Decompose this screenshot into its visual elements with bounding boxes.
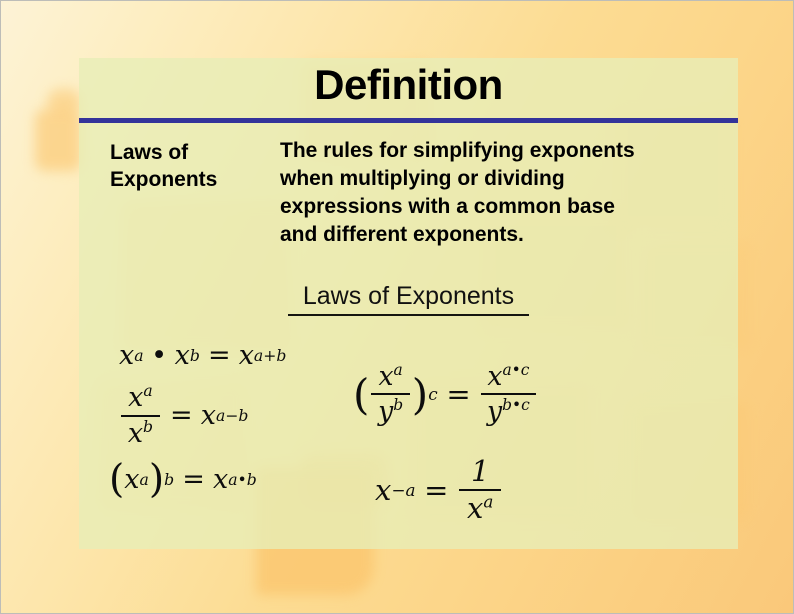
- definition-line-2: when multiplying or dividing: [280, 165, 730, 193]
- formula-column-left: xa • xb = xa+b xa xb = xa−b: [97, 340, 347, 495]
- power-rule-equals: =: [182, 464, 205, 495]
- quotient-power-denominator: yb: [372, 397, 409, 426]
- quotient-rule-fraction: xa xb: [121, 383, 160, 448]
- quotient-rule-result-base: x: [201, 400, 216, 431]
- product-rule-equals: =: [208, 340, 231, 371]
- definition-line-3: expressions with a common base: [280, 193, 730, 221]
- negative-exponent-result-numerator: 1: [465, 456, 496, 487]
- power-rule-result-exp: a•b: [228, 470, 257, 489]
- formula-power-rule: ( xa )b = xa•b: [109, 464, 347, 495]
- formula-grid: xa • xb = xa+b xa xb = xa−b: [79, 340, 738, 540]
- term-label: Laws of Exponents: [110, 139, 275, 194]
- product-rule-exp-2: b: [190, 346, 200, 365]
- quotient-power-result-den-base: y: [487, 396, 502, 427]
- formula-negative-exponent-rule: x−a = 1 xa: [375, 456, 679, 523]
- quotient-power-numerator: xa: [373, 362, 409, 391]
- quotient-rule-num-base: x: [128, 382, 143, 413]
- power-rule-result-base: x: [213, 464, 228, 495]
- quotient-power-inner-bar: [371, 393, 410, 395]
- quotient-rule-numerator: xa: [122, 383, 158, 413]
- term-line-2: Exponents: [110, 166, 275, 193]
- formula-column-right: ( xa yb )c = xa•c yb•c x: [349, 362, 679, 524]
- formula-quotient-rule: xa xb = xa−b: [119, 383, 347, 448]
- quotient-power-result-numerator: xa•c: [482, 362, 536, 391]
- quotient-rule-den-base: x: [128, 418, 143, 449]
- quotient-rule-num-exp: a: [143, 381, 152, 400]
- formula-quotient-power-rule: ( xa yb )c = xa•c yb•c: [353, 362, 679, 426]
- term-line-1: Laws of: [110, 139, 275, 166]
- quotient-power-num-base: x: [378, 361, 393, 392]
- negative-exponent-exp: −a: [391, 480, 415, 500]
- power-rule-inner-exp: a: [140, 470, 149, 489]
- quotient-rule-den-exp: b: [143, 417, 153, 436]
- quotient-power-result-bar: [481, 393, 536, 395]
- puzzle-piece-icon-left-knob: [47, 89, 81, 115]
- figure-title-underline: [288, 314, 529, 316]
- product-rule-result-base: x: [239, 340, 254, 371]
- definition-line-4: and different exponents.: [280, 221, 730, 249]
- product-rule-exp-1: a: [134, 346, 143, 365]
- title-divider: [79, 118, 738, 123]
- quotient-power-open-paren: (: [353, 382, 369, 407]
- figure: Laws of Exponents: [79, 283, 738, 316]
- product-rule-base-1: x: [119, 340, 134, 371]
- quotient-power-outer-exp: c: [428, 384, 437, 404]
- negative-exponent-result-den-base: x: [467, 491, 483, 525]
- definition-text: The rules for simplifying exponents when…: [280, 137, 730, 249]
- quotient-power-num-exp: a: [394, 361, 403, 379]
- page-title: Definition: [79, 64, 738, 106]
- quotient-power-inner-fraction: xa yb: [371, 362, 410, 426]
- figure-title: Laws of Exponents: [79, 283, 738, 311]
- product-rule-operator: •: [151, 340, 167, 371]
- quotient-power-result-num-exp: a•c: [502, 361, 529, 379]
- quotient-power-den-base: y: [378, 396, 393, 427]
- negative-exponent-result-denominator: xa: [461, 493, 500, 524]
- slide-canvas: Definition Laws of Exponents The rules f…: [0, 0, 794, 614]
- quotient-power-close-paren: ): [412, 382, 428, 407]
- quotient-power-result-num-base: x: [487, 361, 502, 392]
- negative-exponent-result-den-exp: a: [483, 491, 493, 511]
- quotient-power-result-denominator: yb•c: [481, 397, 536, 426]
- quotient-rule-fraction-bar: [121, 415, 160, 417]
- power-rule-outer-exp: b: [164, 470, 174, 489]
- negative-exponent-equals: =: [424, 473, 448, 507]
- negative-exponent-base: x: [375, 473, 391, 507]
- power-rule-open-paren: (: [109, 468, 124, 491]
- quotient-rule-denominator: xb: [122, 419, 159, 449]
- content-panel: Definition Laws of Exponents The rules f…: [79, 58, 738, 549]
- power-rule-close-paren: ): [149, 468, 164, 491]
- quotient-rule-result-exp: a−b: [216, 406, 248, 425]
- formula-product-rule: xa • xb = xa+b: [119, 340, 347, 371]
- definition-line-1: The rules for simplifying exponents: [280, 137, 730, 165]
- product-rule-base-2: x: [175, 340, 190, 371]
- quotient-rule-equals: =: [170, 400, 193, 431]
- quotient-power-den-exp: b: [393, 396, 403, 414]
- quotient-power-equals: =: [446, 377, 470, 411]
- quotient-power-result-fraction: xa•c yb•c: [481, 362, 536, 426]
- product-rule-result-exp: a+b: [254, 346, 286, 365]
- power-rule-base: x: [124, 464, 139, 495]
- puzzle-piece-icon-left: [35, 109, 81, 171]
- negative-exponent-result-fraction: 1 xa: [459, 456, 501, 523]
- quotient-power-result-den-exp: b•c: [502, 396, 530, 414]
